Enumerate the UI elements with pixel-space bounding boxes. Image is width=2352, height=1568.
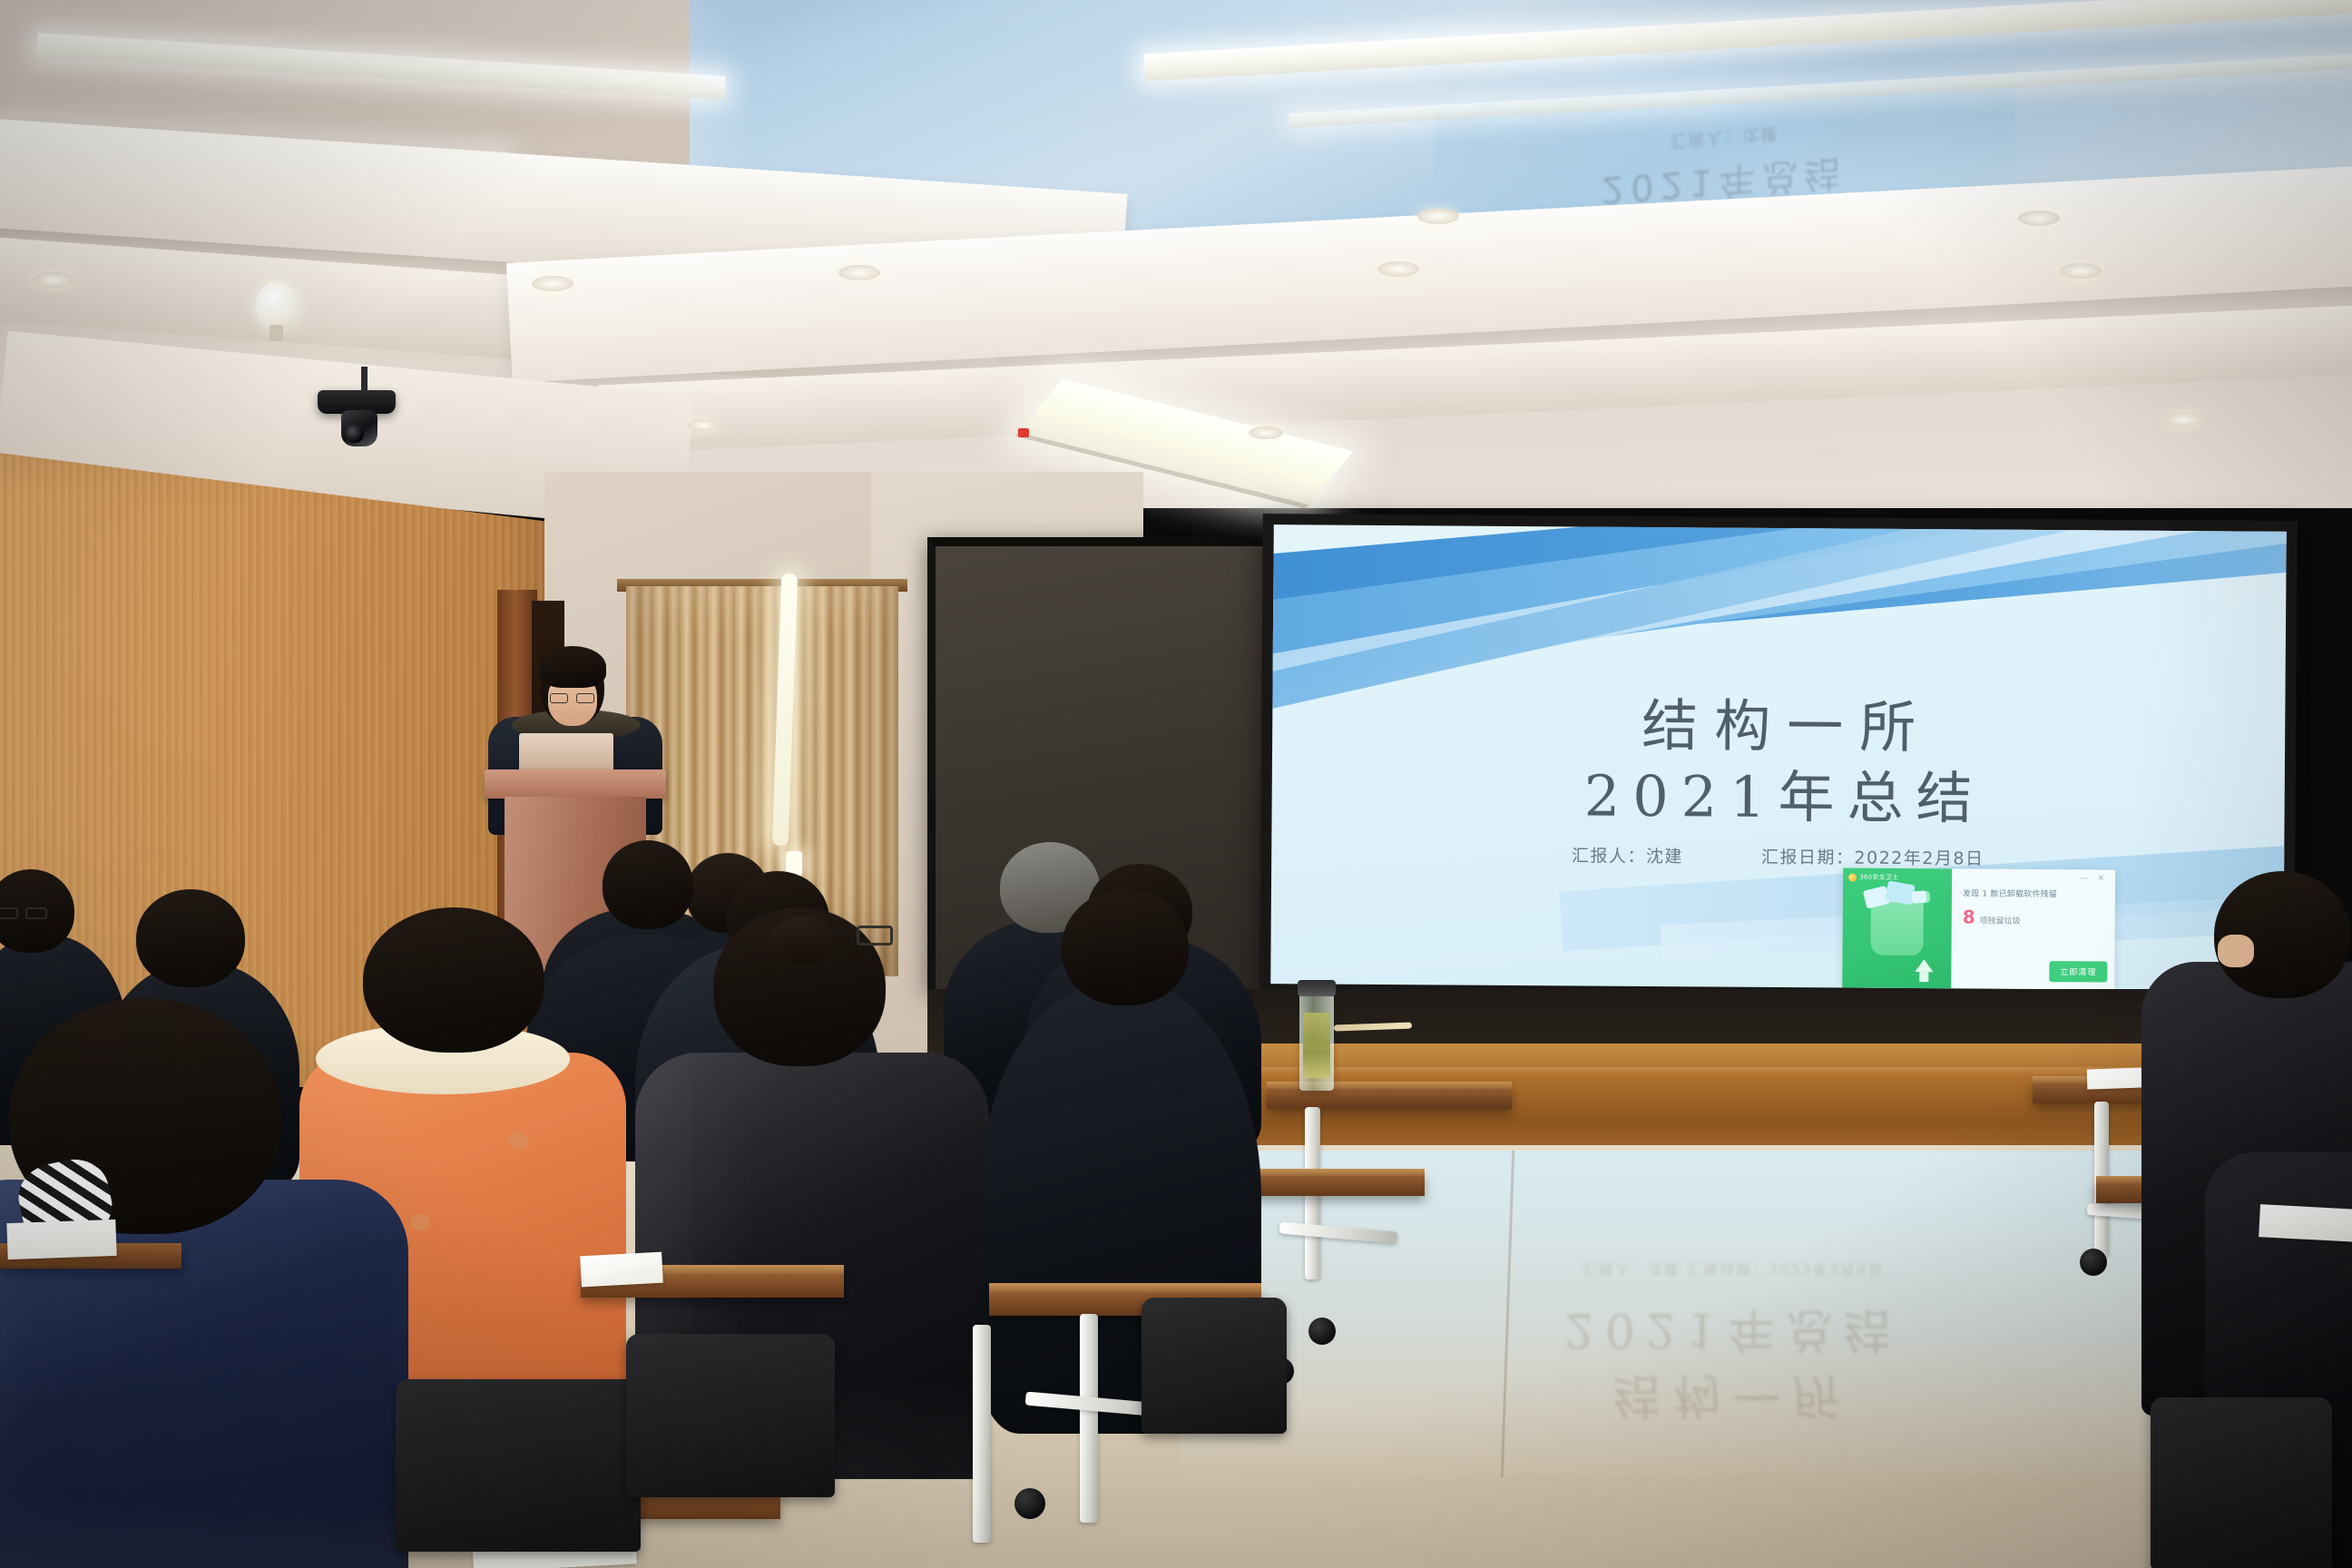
- floor-reflection-line2: 2021年总结: [1416, 1300, 2051, 1368]
- popup-count-unit: 项残留垃圾: [1980, 915, 2021, 926]
- coat-button: [508, 1132, 528, 1149]
- projected-slide[interactable]: 结构一所 2021年总结 汇报人：沈建 汇报日期：2022年2月8日 360安全…: [1270, 524, 2287, 991]
- desk-caster: [1308, 1318, 1336, 1345]
- clean-now-button[interactable]: 立即清理: [2049, 961, 2107, 982]
- attendee-head: [1062, 889, 1189, 1005]
- trash-paper-icon: [1865, 883, 1930, 907]
- floor-slide-reflection: 结构一所 2021年总结 汇报人：沈建 汇报日期：2022年2月8日: [1416, 1207, 2051, 1470]
- glasses-icon: [857, 926, 893, 946]
- ceiling-downlight: [688, 419, 719, 431]
- ptz-camera-icon: [318, 390, 396, 414]
- slide-title-line2: 2021年总结: [1271, 748, 2285, 837]
- ceiling-downlight: [2018, 211, 2060, 226]
- presenter-laptop[interactable]: [519, 733, 613, 773]
- desk-caster: [1014, 1488, 1045, 1519]
- popup-close-icon[interactable]: — ✕: [2080, 874, 2108, 883]
- trash-bin-icon: [1870, 899, 1923, 955]
- popup-illustration: 360安全卫士: [1842, 867, 1952, 988]
- floor-reflection-line3: 汇报人：沈建 汇报日期：2022年2月8日: [1416, 1259, 2051, 1281]
- coat-button: [410, 1214, 430, 1230]
- popup-message: 发现 1 款已卸载软件残留: [1963, 887, 2106, 899]
- chair-back[interactable]: [1142, 1298, 1287, 1434]
- attendee-head: [363, 907, 544, 1053]
- tea-leaves: [1303, 1013, 1330, 1078]
- popup-count-row: 8 项残留垃圾: [1963, 907, 2106, 926]
- ceiling-downlight: [1377, 261, 1419, 277]
- ceiling-downlight: [2165, 413, 2201, 426]
- floor-reflection-line1: 结构一所: [1416, 1366, 2051, 1434]
- attendee-head: [136, 889, 245, 987]
- smoke-detector-icon: [256, 281, 298, 328]
- popup-count: 8: [1963, 907, 1975, 926]
- glasses-icon: [550, 693, 595, 703]
- thermos-cap: [1298, 980, 1336, 996]
- desk-leg: [973, 1325, 991, 1543]
- chair-back[interactable]: [396, 1379, 641, 1552]
- desk-paper[interactable]: [580, 1252, 663, 1288]
- slide-metadata-row: 汇报人：沈建 汇报日期：2022年2月8日: [1271, 840, 2284, 872]
- desk-caster: [2080, 1249, 2107, 1276]
- slide-presenter-label: 汇报人：沈建: [1572, 842, 1683, 867]
- chair-back[interactable]: [2151, 1397, 2332, 1568]
- attendee-head: [603, 840, 693, 929]
- ceiling-downlight: [33, 272, 74, 288]
- desk-leg: [1080, 1314, 1098, 1523]
- light-panel-indicator: [1018, 428, 1029, 437]
- shield-icon: [1848, 873, 1857, 881]
- glass-thermos[interactable]: [1299, 989, 1334, 1091]
- ceiling-downlight: [1417, 209, 1459, 224]
- desk-paper[interactable]: [2259, 1204, 2352, 1242]
- ceiling-downlight: [1249, 426, 1283, 439]
- ceiling-downlight: [532, 276, 573, 291]
- desk-edge: [989, 1283, 1261, 1292]
- desk-paper[interactable]: [6, 1220, 116, 1259]
- podium-top: [485, 769, 666, 799]
- presenter-hair: [539, 646, 606, 688]
- glasses-icon: [0, 907, 47, 919]
- ceiling-downlight: [838, 265, 880, 280]
- slide-date-label: 汇报日期：2022年2月8日: [1761, 844, 1984, 870]
- attendee-ear: [2218, 935, 2254, 967]
- ceiling-downlight: [2060, 263, 2102, 279]
- popup-content: — ✕ 发现 1 款已卸载软件残留 8 项残留垃圾 立即清理: [1951, 868, 2115, 989]
- cleanup-arrow-icon: [1915, 959, 1933, 972]
- security-guard-popup[interactable]: 360安全卫士 — ✕ 发现 1 款已卸载软件残留 8 项残留垃圾 立即清理: [1842, 867, 2115, 989]
- hair-bun: [769, 916, 835, 964]
- chair-back[interactable]: [626, 1334, 835, 1497]
- conference-room-photo: 结构一所 2021年总结 汇报人：沈建 结构一所: [0, 0, 2352, 1568]
